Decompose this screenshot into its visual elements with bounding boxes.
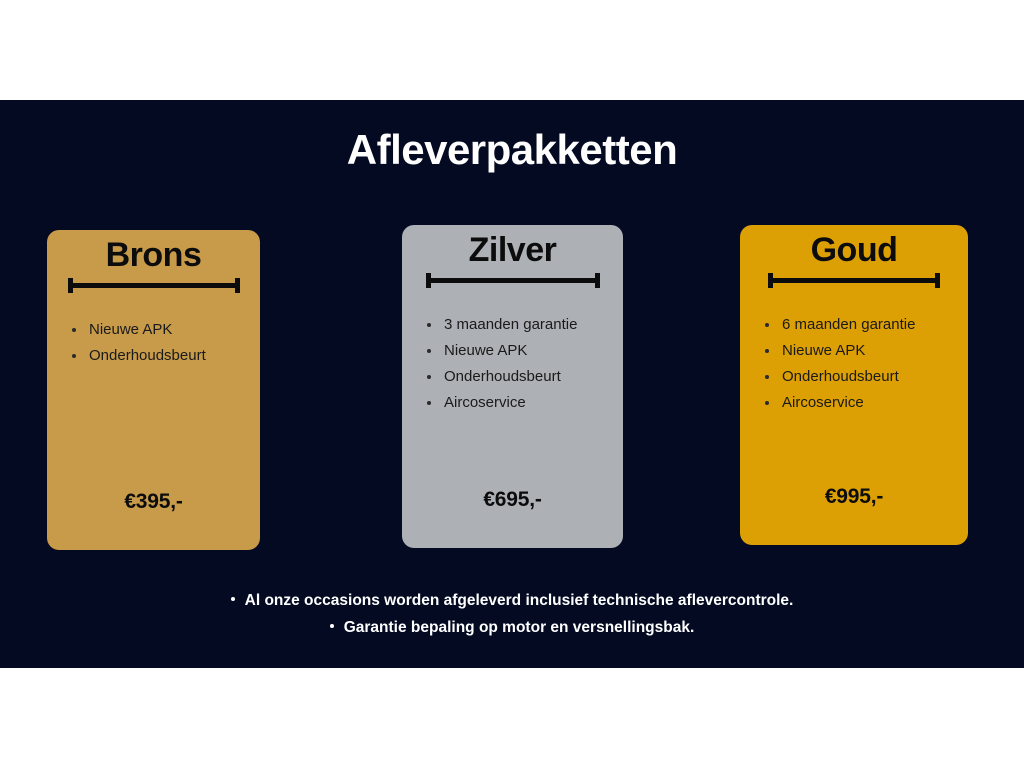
dimension-line-bar-icon — [768, 278, 940, 283]
dimension-line-bar-icon — [426, 278, 600, 283]
list-item: Onderhoudsbeurt — [765, 369, 968, 384]
list-item: 6 maanden garantie — [765, 317, 968, 332]
package-card-goud[interactable]: Goud 6 maanden garantie Nieuwe APK Onder… — [740, 225, 968, 545]
dimension-line-icon — [68, 278, 240, 292]
footer-note: Garantie bepaling op motor en versnellin… — [0, 619, 1024, 637]
list-item: Aircoservice — [765, 395, 968, 410]
dimension-line-icon — [426, 273, 600, 287]
list-item: Nieuwe APK — [765, 343, 968, 358]
footer-notes: Al onze occasions worden afgeleverd incl… — [0, 592, 1024, 646]
list-item: Aircoservice — [427, 395, 623, 410]
list-item: Nieuwe APK — [427, 343, 623, 358]
feature-list-goud: 6 maanden garantie Nieuwe APK Onderhouds… — [765, 317, 968, 421]
package-price-brons: €395,- — [47, 490, 260, 514]
bullet-icon — [231, 597, 235, 601]
package-card-brons[interactable]: Brons Nieuwe APK Onderhoudsbeurt €395,- — [47, 230, 260, 550]
package-title-brons: Brons — [47, 238, 260, 274]
feature-list-brons: Nieuwe APK Onderhoudsbeurt — [72, 322, 260, 374]
footer-note: Al onze occasions worden afgeleverd incl… — [0, 592, 1024, 610]
list-item: Nieuwe APK — [72, 322, 260, 337]
footer-note-text: Al onze occasions worden afgeleverd incl… — [245, 592, 794, 609]
pricing-slide: Afleverpakketten Brons Nieuwe APK Onderh… — [0, 0, 1024, 768]
list-item: Onderhoudsbeurt — [72, 348, 260, 363]
package-title-goud: Goud — [740, 233, 968, 269]
package-price-zilver: €695,- — [402, 488, 623, 512]
dimension-line-icon — [768, 273, 940, 287]
footer-note-text: Garantie bepaling op motor en versnellin… — [344, 619, 695, 636]
dimension-line-right-cap-icon — [235, 278, 240, 293]
package-price-goud: €995,- — [740, 485, 968, 509]
list-item: 3 maanden garantie — [427, 317, 623, 332]
page-title: Afleverpakketten — [0, 126, 1024, 174]
list-item: Onderhoudsbeurt — [427, 369, 623, 384]
dimension-line-right-cap-icon — [595, 273, 600, 288]
dimension-line-right-cap-icon — [935, 273, 940, 288]
package-card-zilver[interactable]: Zilver 3 maanden garantie Nieuwe APK Ond… — [402, 225, 623, 548]
package-title-zilver: Zilver — [402, 233, 623, 269]
bullet-icon — [330, 624, 334, 628]
feature-list-zilver: 3 maanden garantie Nieuwe APK Onderhouds… — [427, 317, 623, 421]
dimension-line-bar-icon — [68, 283, 240, 288]
